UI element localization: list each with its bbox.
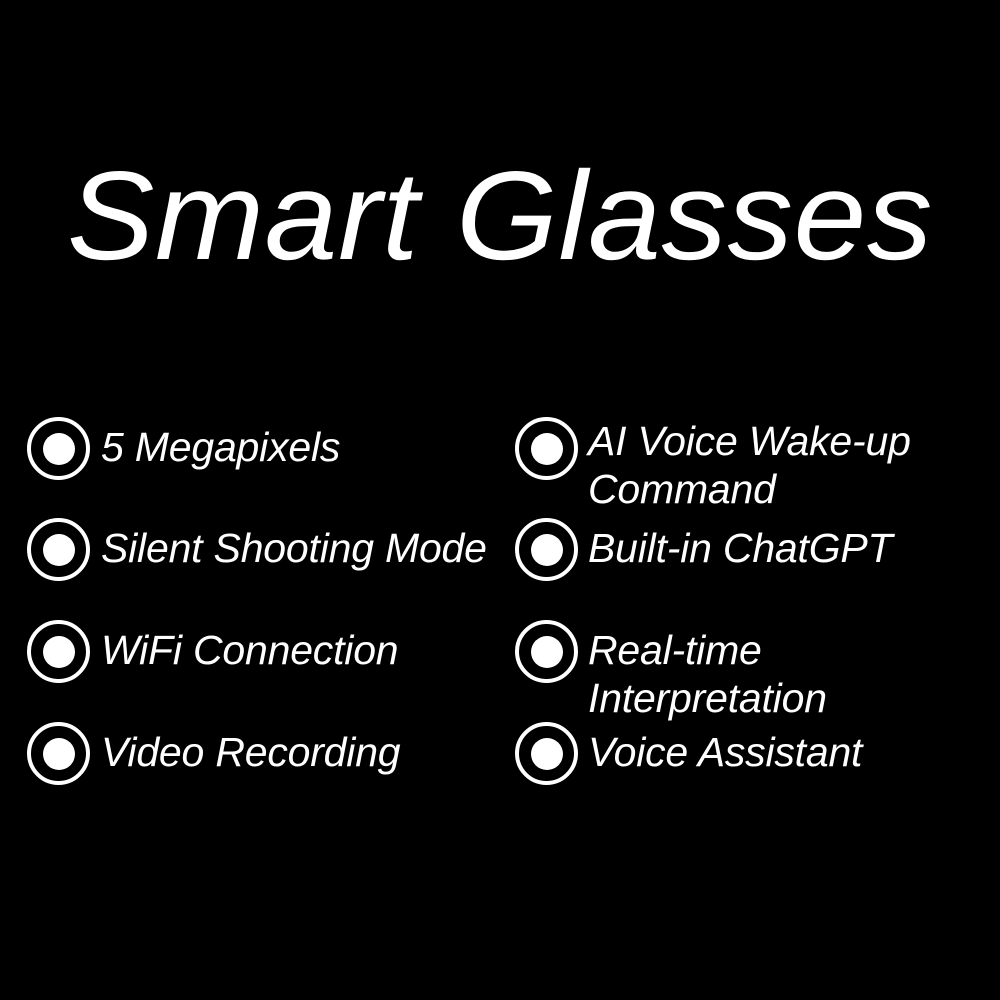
bullet-dot [43, 738, 75, 770]
bullet-dot [531, 636, 563, 668]
bullet-dot [43, 636, 75, 668]
bullet-dot [43, 433, 75, 465]
filled-circle-ring-icon [27, 417, 90, 480]
bullet-dot [531, 534, 563, 566]
bullet-dot [531, 433, 563, 465]
feature-item-voice-assistant: Voice Assistant [515, 722, 862, 785]
feature-item-chatgpt: Built-in ChatGPT [515, 518, 892, 581]
feature-label: Real-time Interpretation [588, 620, 1000, 722]
feature-label: Silent Shooting Mode [101, 518, 487, 572]
feature-item-silent-shooting: Silent Shooting Mode [27, 518, 487, 581]
feature-grid: 5 Megapixels Silent Shooting Mode WiFi C… [0, 402, 1000, 822]
filled-circle-ring-icon [27, 518, 90, 581]
filled-circle-ring-icon [27, 722, 90, 785]
filled-circle-ring-icon [515, 722, 578, 785]
bullet-dot [43, 534, 75, 566]
bullet-dot [531, 738, 563, 770]
filled-circle-ring-icon [515, 518, 578, 581]
feature-item-megapixels: 5 Megapixels [27, 417, 340, 480]
page-title: Smart Glasses [0, 150, 1000, 282]
feature-label: Video Recording [101, 722, 400, 776]
feature-label: 5 Megapixels [101, 417, 340, 471]
filled-circle-ring-icon [515, 417, 578, 480]
feature-item-video-recording: Video Recording [27, 722, 400, 785]
feature-label: WiFi Connection [101, 620, 398, 674]
feature-item-interpretation: Real-time Interpretation [515, 620, 1000, 722]
feature-item-ai-voice-wake-up: AI Voice Wake-up Command [515, 417, 911, 513]
feature-label: Built-in ChatGPT [588, 518, 892, 572]
filled-circle-ring-icon [515, 620, 578, 683]
product-feature-poster: Smart Glasses 5 Megapixels Silent Shooti… [0, 0, 1000, 1000]
filled-circle-ring-icon [27, 620, 90, 683]
feature-label: Voice Assistant [588, 722, 862, 776]
feature-label: AI Voice Wake-up Command [588, 417, 911, 513]
feature-item-wifi: WiFi Connection [27, 620, 398, 683]
